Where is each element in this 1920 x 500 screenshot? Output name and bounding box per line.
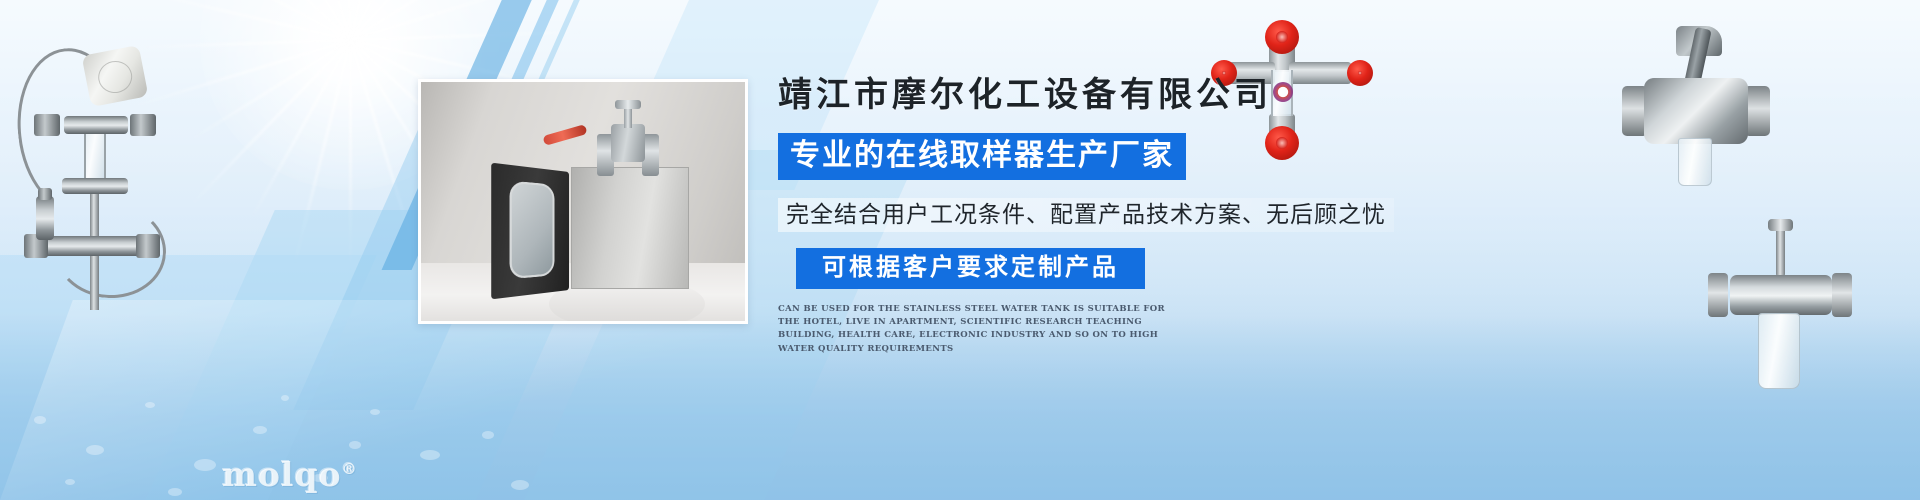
online-sampler-assembly-image	[8, 28, 188, 313]
sampling-cabinet-photo	[418, 79, 748, 324]
company-name: 靖江市摩尔化工设备有限公司	[778, 78, 1418, 112]
inline-sampler-bottle-image	[1700, 225, 1860, 415]
watermark-text: molqo	[222, 455, 342, 494]
english-description: CAN BE USED FOR THE STAINLESS STEEL WATE…	[778, 303, 1186, 356]
registered-mark-icon: ®	[342, 460, 358, 478]
promo-banner: 靖江市摩尔化工设备有限公司 专业的在线取样器生产厂家 完全结合用户工况条件、配置…	[0, 0, 1920, 500]
sub-tagline: 完全结合用户工况条件、配置产品技术方案、无后顾之忧	[778, 198, 1394, 232]
tagline-badge: 专业的在线取样器生产厂家	[778, 133, 1186, 180]
brand-watermark: molqo®	[222, 455, 358, 494]
lever-valve-sampler-image	[1620, 30, 1770, 185]
custom-product-badge: 可根据客户要求定制产品	[796, 248, 1145, 289]
banner-text-block: 靖江市摩尔化工设备有限公司 专业的在线取样器生产厂家 完全结合用户工况条件、配置…	[778, 78, 1418, 356]
